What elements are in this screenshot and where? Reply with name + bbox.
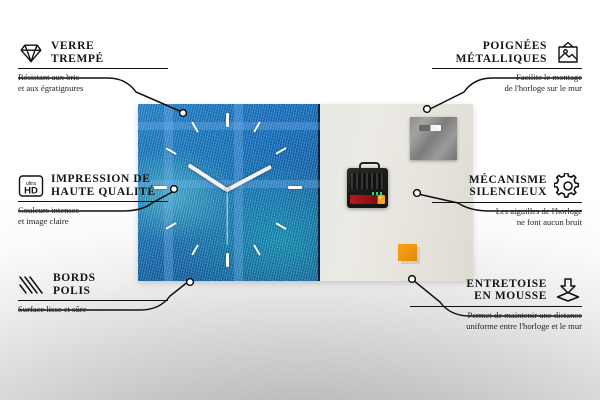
callout-mecanisme-silencieux[interactable]: MÉCANISME SILENCIEUX Les aiguilles de l'… bbox=[432, 173, 582, 227]
callout-desc: Couleurs intenses et image claire bbox=[18, 205, 168, 226]
metal-hanger bbox=[410, 117, 457, 160]
polished-edges-icon bbox=[18, 274, 46, 296]
callout-desc: Surface lisse et sûre bbox=[18, 304, 168, 314]
hands-center-cap bbox=[225, 187, 230, 192]
callout-head: BORDS POLIS bbox=[18, 272, 168, 297]
callout-desc: Permet de maintenir une distance uniform… bbox=[410, 310, 582, 331]
callout-title: POIGNÉES MÉTALLIQUES bbox=[456, 40, 547, 65]
callout-rule bbox=[18, 300, 168, 301]
callout-entretoise-en-mousse[interactable]: ENTRETOISE EN MOUSSE Permet de maintenir… bbox=[410, 277, 582, 331]
battery-plus-icon: + bbox=[378, 196, 382, 202]
callout-title: BORDS POLIS bbox=[53, 272, 96, 297]
glass-grid-line bbox=[234, 104, 243, 281]
gear-icon bbox=[554, 173, 582, 199]
ultra-hd-badge-icon: ultra HD bbox=[18, 174, 44, 198]
arrow-down-layer-icon bbox=[554, 277, 582, 303]
tick-7 bbox=[191, 244, 199, 256]
callout-rule bbox=[18, 201, 168, 202]
tick-12 bbox=[226, 113, 229, 127]
callout-impression-haute-qualite[interactable]: ultra HD IMPRESSION DE HAUTE QUALITÉ Cou… bbox=[18, 173, 168, 226]
callout-desc: Facilite le montage de l'horloge sur le … bbox=[432, 72, 582, 93]
clock-mechanism: + bbox=[347, 168, 388, 208]
callout-poignees-metalliques[interactable]: POIGNÉES MÉTALLIQUES Facilite le montage… bbox=[432, 40, 582, 93]
tick-5 bbox=[253, 244, 261, 256]
callout-head: MÉCANISME SILENCIEUX bbox=[432, 173, 582, 199]
callout-head: ultra HD IMPRESSION DE HAUTE QUALITÉ bbox=[18, 173, 168, 198]
callout-head: ENTRETOISE EN MOUSSE bbox=[410, 277, 582, 303]
hanger-slot bbox=[419, 125, 441, 131]
callout-head: POIGNÉES MÉTALLIQUES bbox=[432, 40, 582, 65]
tick-3 bbox=[288, 186, 302, 189]
callout-desc: Résistant aux bris et aux égratignures bbox=[18, 72, 168, 93]
callout-title: VERRE TREMPÉ bbox=[51, 40, 104, 65]
mechanism-hook bbox=[359, 162, 380, 173]
diamond-icon bbox=[18, 42, 44, 64]
callout-title: ENTRETOISE EN MOUSSE bbox=[466, 278, 547, 303]
tick-6 bbox=[226, 253, 229, 267]
battery-label: + bbox=[350, 195, 385, 204]
hanging-frame-icon bbox=[554, 41, 582, 65]
callout-verre-trempe[interactable]: VERRE TREMPÉ Résistant aux bris et aux é… bbox=[18, 40, 168, 93]
callout-rule bbox=[432, 68, 582, 69]
svg-text:HD: HD bbox=[24, 185, 38, 196]
callout-title: MÉCANISME SILENCIEUX bbox=[469, 174, 547, 199]
tick-4 bbox=[275, 222, 287, 230]
product-image: + bbox=[138, 104, 473, 281]
callout-desc: Les aiguilles de l'horloge ne font aucun… bbox=[432, 206, 582, 227]
mechanism-vents bbox=[351, 173, 384, 189]
callout-rule bbox=[432, 202, 582, 203]
callout-title: IMPRESSION DE HAUTE QUALITÉ bbox=[51, 173, 156, 198]
foam-spacer bbox=[398, 244, 417, 261]
callout-head: VERRE TREMPÉ bbox=[18, 40, 168, 65]
callout-rule bbox=[410, 306, 582, 307]
callout-bords-polis[interactable]: BORDS POLIS Surface lisse et sûre bbox=[18, 272, 168, 315]
callout-rule bbox=[18, 68, 168, 69]
second-hand bbox=[226, 189, 227, 245]
infographic-canvas: + bbox=[0, 0, 600, 400]
glass-grid-line bbox=[138, 122, 320, 130]
tick-2 bbox=[275, 147, 287, 155]
